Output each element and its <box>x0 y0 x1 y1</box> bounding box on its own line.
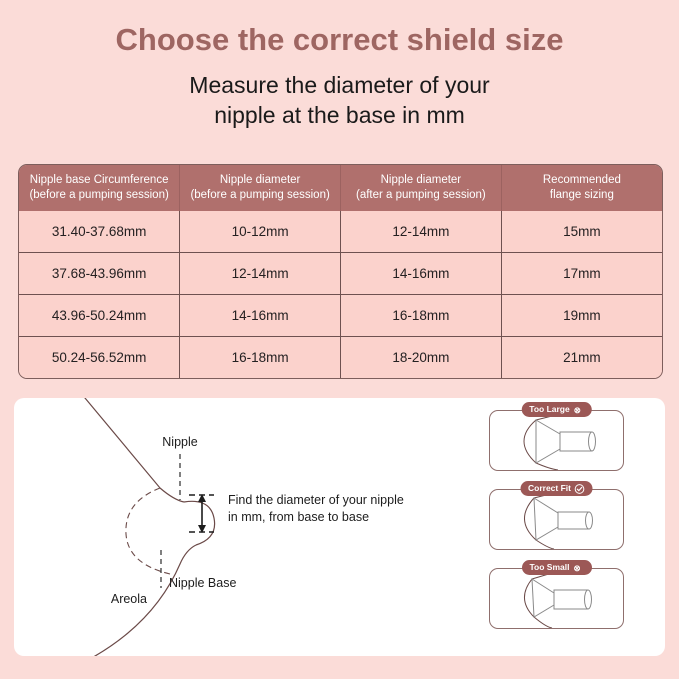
nipple-label: Nipple <box>162 435 197 449</box>
badge-label: Too Large <box>529 402 569 417</box>
check-circle-glyph <box>575 484 585 494</box>
panel-too-large[interactable]: Too Large ⊗ <box>489 410 624 471</box>
panel-correct-fit[interactable]: Correct Fit <box>489 489 624 550</box>
table-row: 43.96-50.24mm 14-16mm 16-18mm 19mm <box>19 295 662 337</box>
flange-illustration-correct-fit <box>490 490 623 549</box>
column-header-diameter-before: Nipple diameter (before a pumping sessio… <box>180 165 341 211</box>
cell-diameter-after: 18-20mm <box>341 337 502 379</box>
column-header-line2: flange sizing <box>550 189 614 201</box>
sizing-table: Nipple base Circumference (before a pump… <box>19 165 662 378</box>
page-subtitle-line2: nipple at the base in mm <box>214 102 465 128</box>
column-header-line1: Nipple diameter <box>220 174 301 186</box>
column-header-line2: (after a pumping session) <box>356 189 486 201</box>
flange-illustration-too-small <box>490 569 623 628</box>
cell-flange-size: 21mm <box>501 337 662 379</box>
sizing-table-head: Nipple base Circumference (before a pump… <box>19 165 662 211</box>
badge-too-large: Too Large ⊗ <box>521 402 591 417</box>
cell-diameter-before: 14-16mm <box>180 295 341 337</box>
sizing-table-container: Nipple base Circumference (before a pump… <box>18 164 663 379</box>
x-circle-icon: ⊗ <box>574 405 584 415</box>
instruction-line2: in mm, from base to base <box>228 510 369 524</box>
cell-diameter-before: 10-12mm <box>180 211 341 253</box>
column-header-flange-sizing: Recommended flange sizing <box>501 165 662 211</box>
sizing-table-body: 31.40-37.68mm 10-12mm 12-14mm 15mm 37.68… <box>19 211 662 378</box>
table-row: 37.68-43.96mm 12-14mm 14-16mm 17mm <box>19 253 662 295</box>
areola-dashed-arc <box>126 488 170 574</box>
badge-label: Too Small <box>530 560 570 575</box>
column-header-circumference: Nipple base Circumference (before a pump… <box>19 165 180 211</box>
cell-diameter-after: 16-18mm <box>341 295 502 337</box>
x-circle-icon: ⊗ <box>574 563 584 573</box>
flange-tunnel <box>558 512 589 529</box>
breast-anatomy-diagram: Nipple Nipple Base Areola Find the diame… <box>14 398 454 656</box>
panel-too-small[interactable]: Too Small ⊗ <box>489 568 624 629</box>
instruction-line1: Find the diameter of your nipple <box>228 493 404 507</box>
flange-tunnel-end <box>586 512 593 529</box>
column-header-line2: (before a pumping session) <box>190 189 329 201</box>
flange-tunnel-end <box>589 432 596 451</box>
badge-correct-fit: Correct Fit <box>520 481 593 496</box>
page-header: Choose the correct shield size Measure t… <box>0 0 679 130</box>
areola-label: Areola <box>111 592 147 606</box>
check-circle-icon <box>575 484 585 494</box>
badge-too-small: Too Small ⊗ <box>522 560 592 575</box>
illustration-card: Nipple Nipple Base Areola Find the diame… <box>14 398 665 656</box>
flange-tunnel <box>554 590 588 609</box>
flange-cone <box>536 420 560 463</box>
page-subtitle-line1: Measure the diameter of your <box>189 72 489 98</box>
page-subtitle: Measure the diameter of your nipple at t… <box>0 70 679 130</box>
cell-flange-size: 15mm <box>501 211 662 253</box>
cell-circumference: 37.68-43.96mm <box>19 253 180 295</box>
flange-tunnel <box>560 432 592 451</box>
table-row: 31.40-37.68mm 10-12mm 12-14mm 15mm <box>19 211 662 253</box>
cell-flange-size: 19mm <box>501 295 662 337</box>
column-header-line2: (before a pumping session) <box>29 189 168 201</box>
cell-diameter-before: 12-14mm <box>180 253 341 295</box>
table-header-row: Nipple base Circumference (before a pump… <box>19 165 662 211</box>
flange-cone <box>532 579 554 617</box>
badge-label: Correct Fit <box>528 481 571 496</box>
flange-cone <box>534 498 558 540</box>
cell-diameter-before: 16-18mm <box>180 337 341 379</box>
nipple-outline <box>184 501 215 545</box>
cell-flange-size: 17mm <box>501 253 662 295</box>
flange-illustration-too-large <box>490 411 623 470</box>
column-header-diameter-after: Nipple diameter (after a pumping session… <box>341 165 502 211</box>
cell-circumference: 50.24-56.52mm <box>19 337 180 379</box>
cell-circumference: 43.96-50.24mm <box>19 295 180 337</box>
table-row: 50.24-56.52mm 16-18mm 18-20mm 21mm <box>19 337 662 379</box>
breast-upper-contour <box>80 398 184 502</box>
flange-tunnel-end <box>585 590 592 609</box>
shield-size-guide-page: { "header": { "title": "Choose the corre… <box>0 0 679 679</box>
cell-diameter-after: 12-14mm <box>341 211 502 253</box>
page-title: Choose the correct shield size <box>0 20 679 60</box>
cell-diameter-after: 14-16mm <box>341 253 502 295</box>
column-header-line1: Nipple base Circumference <box>30 174 169 186</box>
column-header-line1: Nipple diameter <box>381 174 462 186</box>
flange-fit-panels: Too Large ⊗ Correct Fit <box>469 410 644 629</box>
cell-circumference: 31.40-37.68mm <box>19 211 180 253</box>
nipple-base-label: Nipple Base <box>169 576 236 590</box>
column-header-line1: Recommended <box>543 174 621 186</box>
